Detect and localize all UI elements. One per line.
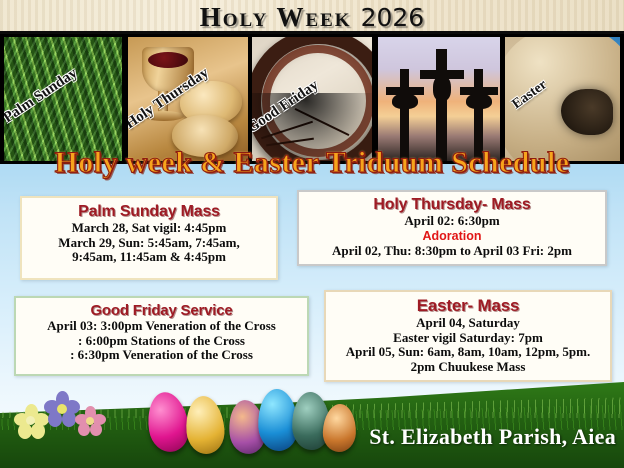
easter-line-2: Easter vigil Saturday: 7pm <box>326 331 610 346</box>
panel-holy-thursday: Holy Thursday <box>128 37 248 161</box>
palm-sunday-line-2: March 29, Sun: 5:45am, 7:45am, <box>22 236 276 251</box>
panel-three-crosses <box>378 37 500 161</box>
page-title-main: Holy Week <box>200 2 352 33</box>
schedule-card-holy-thursday: Holy Thursday- Mass April 02: 6:30pm Ado… <box>297 190 607 266</box>
panel-palm-sunday: Palm Sunday <box>4 37 122 161</box>
palm-sunday-line-1: March 28, Sat vigil: 4:45pm <box>22 221 276 236</box>
card-heading-palm-sunday: Palm Sunday Mass <box>22 203 276 221</box>
palm-sunday-line-3: 9:45am, 11:45am & 4:45pm <box>22 250 276 265</box>
panel-label-palm-sunday: Palm Sunday <box>4 65 81 127</box>
adoration-times: April 02, Thu: 8:30pm to April 03 Fri: 2… <box>299 244 605 259</box>
bread-icon-2 <box>172 115 238 157</box>
holy-week-poster: Holy Week 2026 Palm Sunday Holy Thursday… <box>0 0 624 468</box>
easter-line-4: 2pm Chuukese Mass <box>326 360 610 375</box>
card-heading-easter: Easter- Mass <box>326 296 610 316</box>
holy-thursday-mass-time: April 02: 6:30pm <box>299 214 605 229</box>
page-title: Holy Week 2026 <box>0 0 624 34</box>
schedule-card-easter: Easter- Mass April 04, Saturday Easter v… <box>324 290 612 382</box>
parish-name: St. Elizabeth Parish, Aiea <box>369 424 616 450</box>
schedule-card-palm-sunday: Palm Sunday Mass March 28, Sat vigil: 4:… <box>20 196 278 280</box>
crown-shadow <box>252 93 372 161</box>
easter-line-3: April 05, Sun: 6am, 8am, 10am, 12pm, 5pm… <box>326 345 610 360</box>
good-friday-line-2: : 6:00pm Stations of the Cross <box>16 334 307 349</box>
photo-strip: Palm Sunday Holy Thursday Good Friday <box>0 34 624 164</box>
pink-flower-icon <box>75 406 105 436</box>
panel-easter: Easter <box>505 37 620 161</box>
card-heading-good-friday: Good Friday Service <box>16 302 307 319</box>
good-friday-line-1: April 03: 3:00pm Veneration of the Cross <box>16 319 307 334</box>
card-heading-holy-thursday: Holy Thursday- Mass <box>299 196 605 214</box>
tomb-opening-icon <box>561 89 613 135</box>
yellow-flower-icon <box>14 404 48 438</box>
page-title-year: 2026 <box>361 3 425 32</box>
good-friday-line-3: : 6:30pm Veneration of the Cross <box>16 348 307 363</box>
panel-good-friday: Good Friday <box>252 37 372 161</box>
easter-line-1: April 04, Saturday <box>326 316 610 331</box>
schedule-card-good-friday: Good Friday Service April 03: 3:00pm Ven… <box>14 296 309 376</box>
adoration-label: Adoration <box>299 229 605 244</box>
